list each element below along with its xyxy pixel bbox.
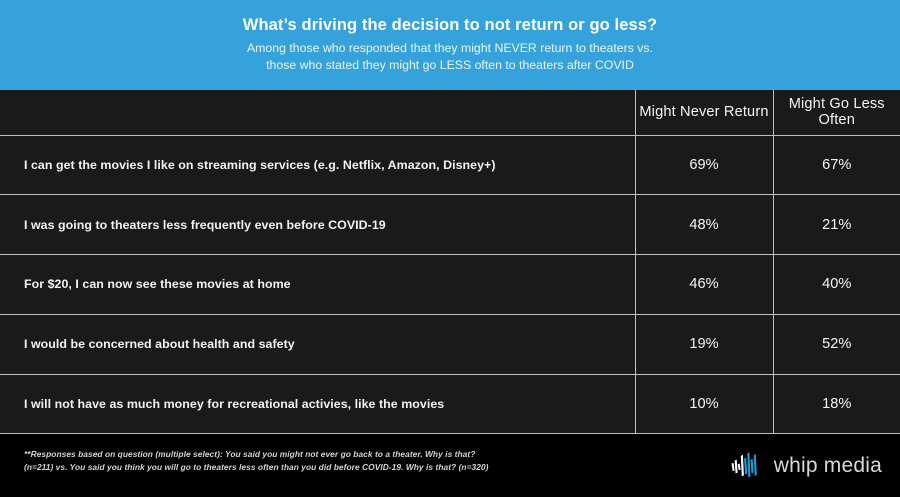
table-row: I was going to theaters less frequently …	[0, 195, 900, 255]
survey-table-container: Might Never Return Might Go Less Often I…	[0, 90, 900, 434]
row-label: I will not have as much money for recrea…	[0, 374, 635, 434]
value-might-go-less-often: 40%	[773, 255, 900, 315]
value-might-never-return: 19%	[635, 314, 773, 374]
value-might-never-return: 10%	[635, 374, 773, 434]
whip-media-logo: whip media	[731, 449, 882, 481]
whip-media-waveform-icon	[731, 452, 767, 478]
row-label: I can get the movies I like on streaming…	[0, 135, 635, 195]
page-subtitle-line-1: Among those who responded that they migh…	[247, 40, 653, 57]
value-might-go-less-often: 67%	[773, 135, 900, 195]
row-label: I would be concerned about health and sa…	[0, 314, 635, 374]
column-header-might-never-return: Might Never Return	[635, 90, 773, 135]
survey-table: Might Never Return Might Go Less Often I…	[0, 90, 900, 434]
row-label: I was going to theaters less frequently …	[0, 195, 635, 255]
row-label-column-header	[0, 90, 635, 135]
table-row: I can get the movies I like on streaming…	[0, 135, 900, 195]
footnote-line-1: **Responses based on question (multiple …	[24, 448, 584, 461]
page-title: What’s driving the decision to not retur…	[243, 16, 657, 35]
value-might-never-return: 48%	[635, 195, 773, 255]
table-row: I would be concerned about health and sa…	[0, 314, 900, 374]
value-might-never-return: 69%	[635, 135, 773, 195]
value-might-go-less-often: 52%	[773, 314, 900, 374]
header-banner: What’s driving the decision to not retur…	[0, 0, 900, 90]
table-row: I will not have as much money for recrea…	[0, 374, 900, 434]
value-might-go-less-often: 18%	[773, 374, 900, 434]
footnote-line-2: (n=211) vs. You said you think you will …	[24, 461, 584, 474]
whip-media-logo-text: whip media	[774, 455, 882, 476]
slide-root: What’s driving the decision to not retur…	[0, 0, 900, 497]
table-header-row: Might Never Return Might Go Less Often	[0, 90, 900, 135]
page-subtitle-line-2: those who stated they might go LESS ofte…	[247, 57, 653, 74]
row-label: For $20, I can now see these movies at h…	[0, 255, 635, 315]
footer: **Responses based on question (multiple …	[0, 434, 900, 497]
footnote: **Responses based on question (multiple …	[24, 448, 584, 474]
page-subtitle: Among those who responded that they migh…	[247, 40, 653, 74]
column-header-might-go-less-often: Might Go Less Often	[773, 90, 900, 135]
value-might-go-less-often: 21%	[773, 195, 900, 255]
value-might-never-return: 46%	[635, 255, 773, 315]
table-row: For $20, I can now see these movies at h…	[0, 255, 900, 315]
